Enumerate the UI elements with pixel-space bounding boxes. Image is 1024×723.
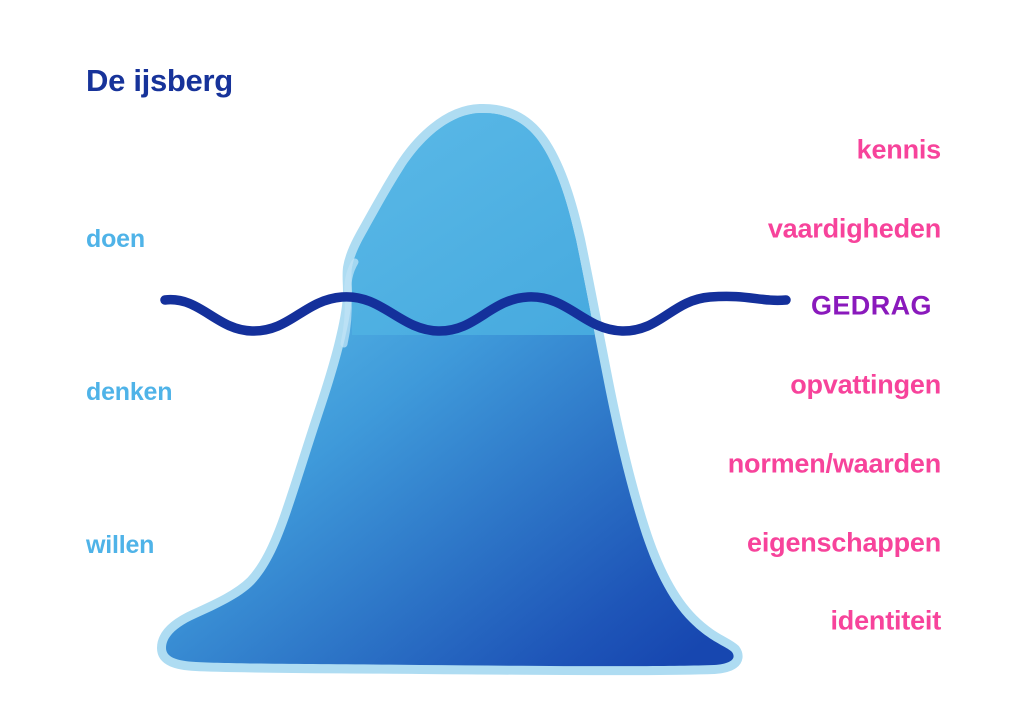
label-eigenschappen: eigenschappen xyxy=(747,528,941,559)
label-opvattingen-text: opvattingen xyxy=(790,370,941,401)
label-kennis: kennis xyxy=(857,135,941,166)
label-opvattingen: opvattingen xyxy=(790,370,941,401)
label-normen-waarden-text: normen/waarden xyxy=(728,449,941,480)
label-vaardigheden: vaardigheden xyxy=(768,214,941,245)
label-denken: denken xyxy=(86,378,172,407)
label-kennis-text: kennis xyxy=(857,135,941,166)
label-normen-waarden: normen/waarden xyxy=(728,449,941,480)
label-doen: doen xyxy=(86,225,145,254)
iceberg-diagram-canvas: De ijsberg xyxy=(0,0,1024,723)
label-eigenschappen-text: eigenschappen xyxy=(747,528,941,559)
label-willen: willen xyxy=(86,531,154,560)
label-identiteit-text: identiteit xyxy=(831,606,942,637)
label-identiteit: identiteit xyxy=(831,606,942,637)
label-vaardigheden-text: vaardigheden xyxy=(768,214,941,245)
iceberg-shape xyxy=(166,113,734,666)
label-gedrag: GEDRAG xyxy=(811,291,932,322)
